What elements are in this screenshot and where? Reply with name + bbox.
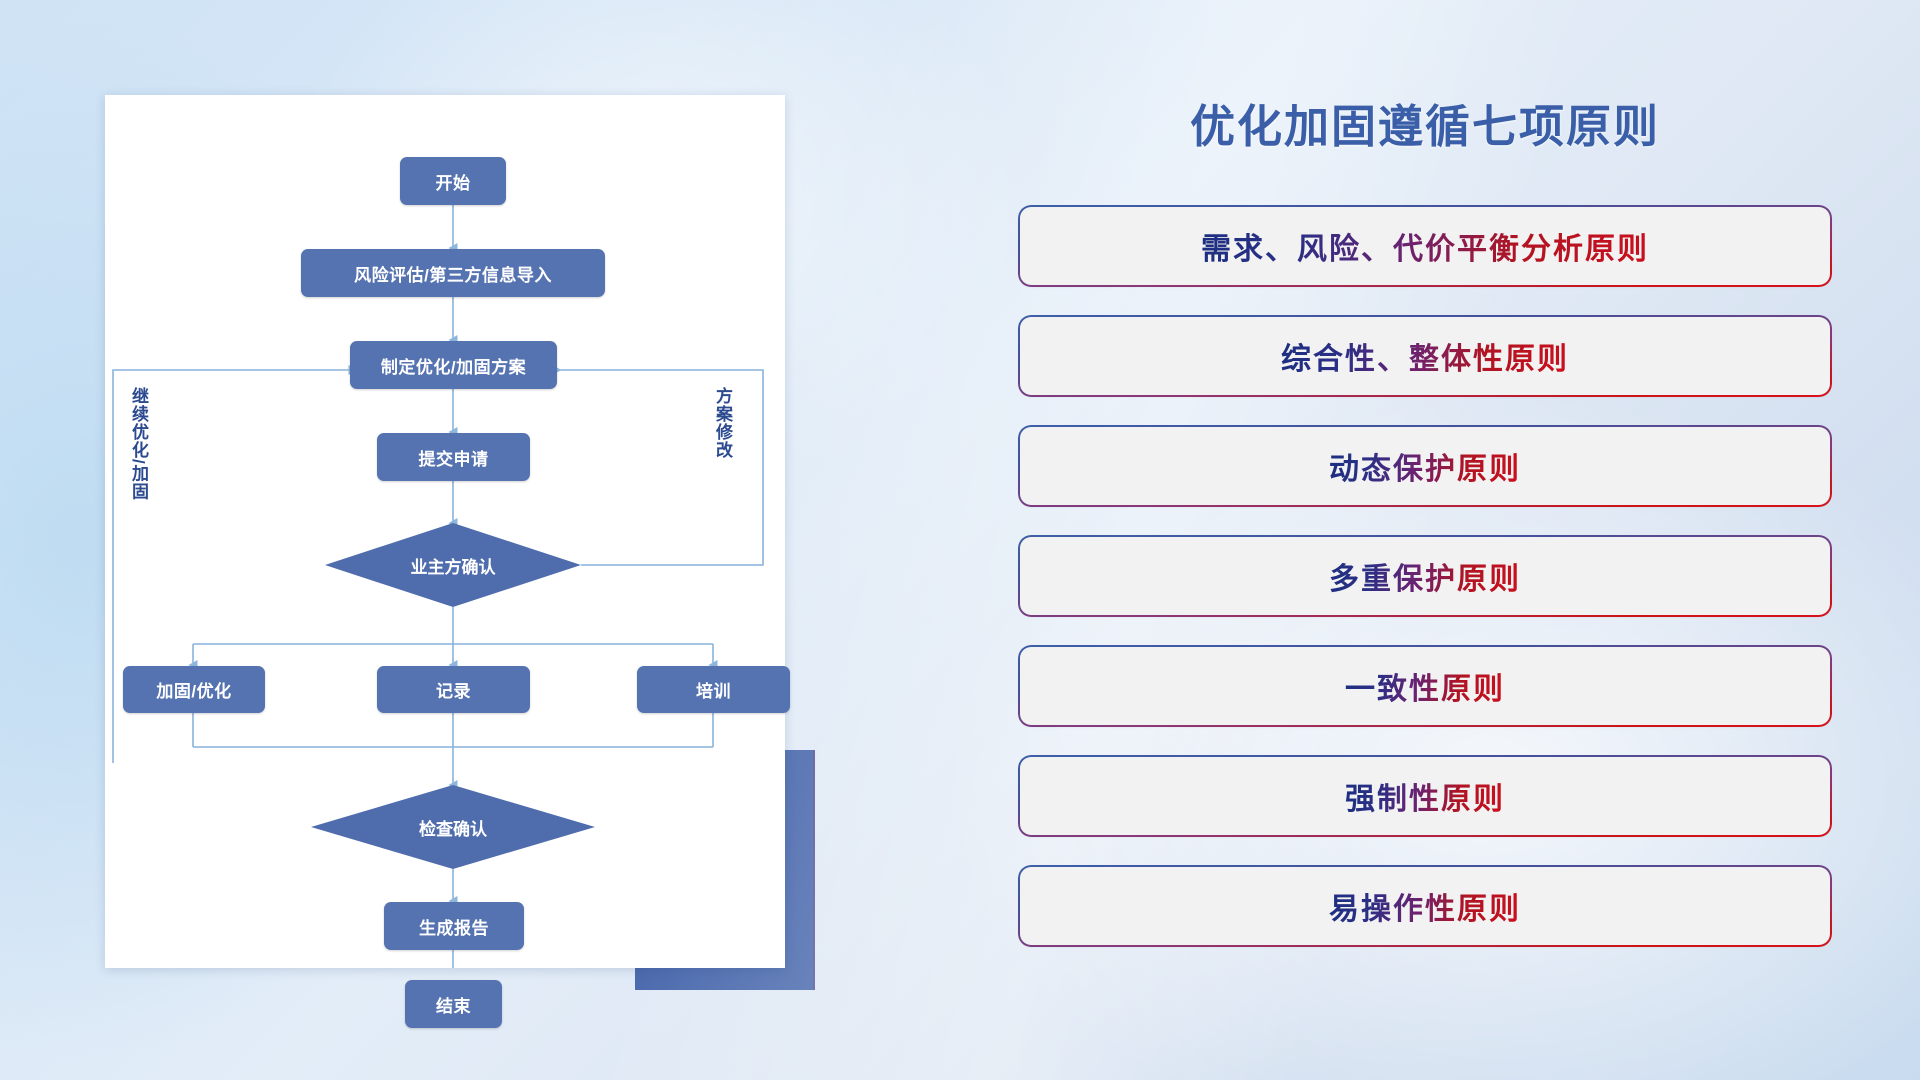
principle-item-5[interactable]: 一致性原则 — [1020, 647, 1830, 725]
decision-owner-confirm-shape — [325, 523, 581, 607]
principles-title: 优化加固遵循七项原则 — [1020, 90, 1830, 155]
flowchart-card: 开始 风险评估/第三方信息导入 制定优化/加固方案 提交申请 业主方确认 加固/… — [105, 95, 785, 968]
flow-node-start[interactable]: 开始 — [400, 157, 506, 205]
flow-node-training-label: 培训 — [696, 677, 731, 702]
flow-node-risk-assessment[interactable]: 风险评估/第三方信息导入 — [301, 249, 605, 297]
flow-node-plan-label: 制定优化/加固方案 — [381, 353, 526, 378]
principle-label-1: 需求、风险、代价平衡分析原则 — [1201, 224, 1649, 268]
principle-item-3[interactable]: 动态保护原则 — [1020, 427, 1830, 505]
flow-node-record[interactable]: 记录 — [377, 666, 530, 713]
flow-node-report-label: 生成报告 — [419, 914, 489, 939]
flow-node-plan[interactable]: 制定优化/加固方案 — [350, 341, 557, 389]
flow-node-submit-label: 提交申请 — [419, 445, 489, 470]
principle-item-6[interactable]: 强制性原则 — [1020, 757, 1830, 835]
principle-item-4[interactable]: 多重保护原则 — [1020, 537, 1830, 615]
flow-edge-label-continue-optimize: 继续优化/加固 — [129, 387, 148, 501]
flow-node-end-label: 结束 — [436, 992, 471, 1017]
principle-label-6: 强制性原则 — [1345, 774, 1505, 818]
flowchart-connectors — [105, 95, 785, 968]
principle-label-2: 综合性、整体性原则 — [1281, 334, 1569, 378]
principles-panel: 优化加固遵循七项原则 需求、风险、代价平衡分析原则 综合性、整体性原则 动态保护… — [1020, 90, 1830, 977]
flow-node-record-label: 记录 — [436, 677, 471, 702]
flow-node-reinforce[interactable]: 加固/优化 — [123, 666, 265, 713]
principle-label-5: 一致性原则 — [1345, 664, 1505, 708]
principle-item-2[interactable]: 综合性、整体性原则 — [1020, 317, 1830, 395]
flowchart: 开始 风险评估/第三方信息导入 制定优化/加固方案 提交申请 业主方确认 加固/… — [105, 95, 785, 968]
principle-item-1[interactable]: 需求、风险、代价平衡分析原则 — [1020, 207, 1830, 285]
flow-node-risk-assessment-label: 风险评估/第三方信息导入 — [354, 261, 552, 286]
flow-edge-label-plan-revision: 方案修改 — [713, 387, 732, 459]
flow-node-reinforce-label: 加固/优化 — [156, 677, 231, 702]
flow-node-report[interactable]: 生成报告 — [384, 902, 524, 950]
flow-node-training[interactable]: 培训 — [637, 666, 790, 713]
flow-node-start-label: 开始 — [436, 169, 471, 194]
principle-label-4: 多重保护原则 — [1329, 554, 1521, 598]
flow-node-end[interactable]: 结束 — [405, 980, 502, 1028]
slide-canvas: 开始 风险评估/第三方信息导入 制定优化/加固方案 提交申请 业主方确认 加固/… — [0, 0, 1920, 1080]
principle-label-3: 动态保护原则 — [1329, 444, 1521, 488]
principle-label-7: 易操作性原则 — [1329, 884, 1521, 928]
principle-item-7[interactable]: 易操作性原则 — [1020, 867, 1830, 945]
flow-node-submit[interactable]: 提交申请 — [377, 433, 530, 481]
decision-check-confirm-shape — [311, 785, 595, 869]
